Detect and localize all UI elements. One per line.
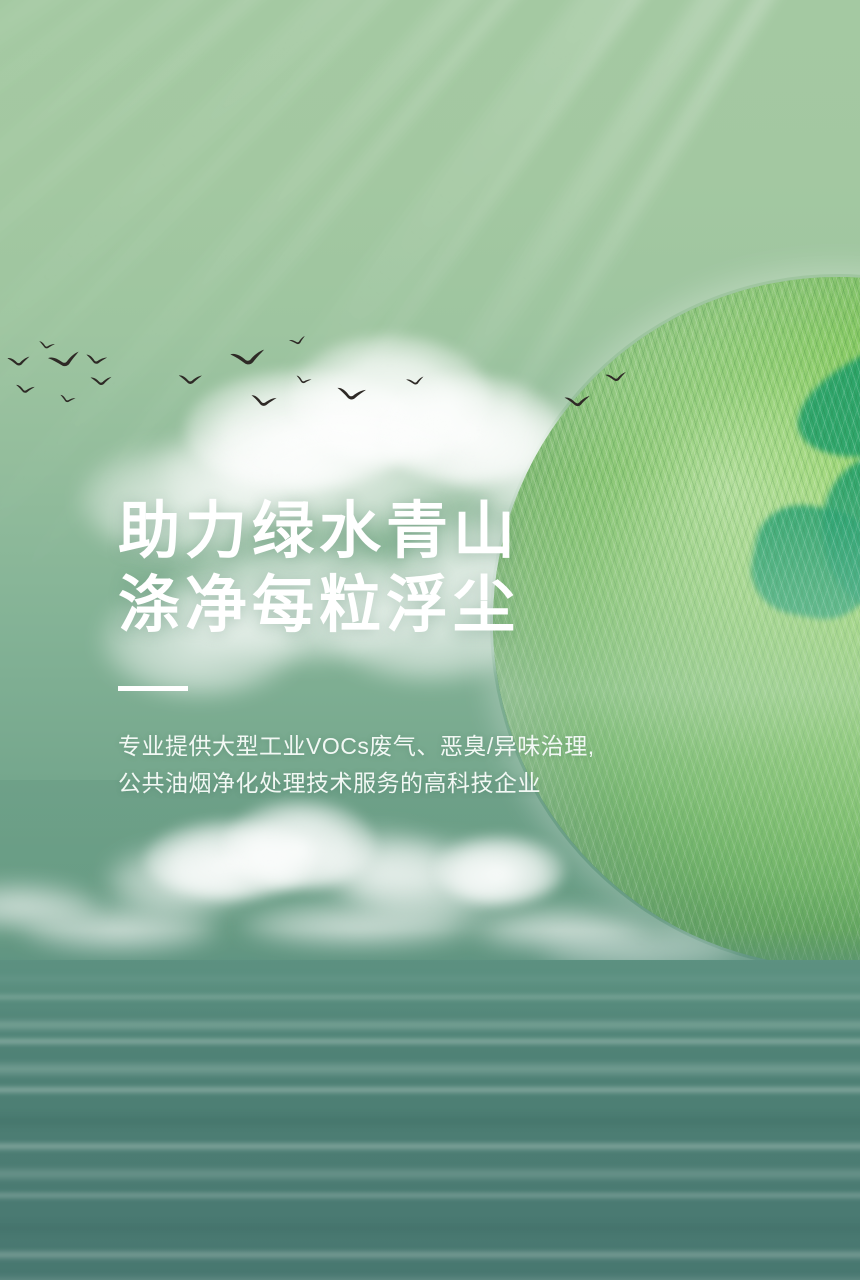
text-content: 助力绿水青山 涤净每粒浮尘 专业提供大型工业VOCs废气、恶臭/异味治理, 公共… [118, 495, 678, 802]
cloud-puff [340, 840, 520, 920]
cloud-puff [105, 845, 255, 915]
bird-icon [15, 383, 38, 396]
bird-icon [58, 393, 78, 406]
divider-rule [118, 686, 188, 691]
bird-icon [37, 340, 57, 353]
water-surface [0, 960, 860, 1280]
bird-icon [90, 374, 116, 389]
water-wave-streak [0, 1110, 860, 1132]
bird-icon [288, 333, 310, 349]
water-horizon-blend [0, 930, 860, 1020]
subtitle-line-1: 专业提供大型工业VOCs废气、恶臭/异味治理, [118, 728, 678, 765]
water-wave-streak [0, 1250, 860, 1260]
light-ray [0, 0, 542, 386]
cloud-puff [145, 820, 315, 900]
cloud-puff [435, 835, 565, 905]
bird-icon [604, 369, 631, 386]
water-wave-streak [0, 1218, 860, 1238]
headline-line-1: 助力绿水青山 [118, 495, 678, 569]
subtitle-line-2: 公共油烟净化处理技术服务的高科技企业 [118, 765, 678, 802]
cloud-puff [470, 908, 650, 952]
bird-icon [84, 353, 110, 369]
water-wave-streak [0, 1086, 860, 1094]
globe-continent [857, 565, 860, 740]
light-ray [0, 0, 793, 578]
water-wave-streak [0, 1060, 860, 1078]
cloud-puff [225, 800, 375, 890]
cloud-puff [540, 930, 740, 980]
poster-banner: 助力绿水青山 涤净每粒浮尘 专业提供大型工业VOCs废气、恶臭/异味治理, 公共… [0, 0, 860, 1280]
globe-continent [744, 497, 860, 626]
cloud-puff [20, 906, 220, 954]
water-wave-streak [0, 1142, 860, 1151]
water-wave-streak [0, 974, 860, 984]
birds-flock [0, 330, 480, 470]
bird-icon [405, 374, 428, 389]
bird-icon [6, 354, 33, 371]
globe-submerged-part [493, 960, 860, 967]
bird-icon [177, 373, 205, 389]
bird-icon [249, 393, 280, 411]
water-wave-streak [0, 994, 860, 1000]
water-wave-streak [0, 1166, 860, 1182]
globe-continent [813, 442, 860, 621]
bird-icon [228, 345, 271, 373]
cloud-puff [310, 830, 450, 900]
bird-icon [563, 392, 594, 411]
water-wave-streak [0, 1274, 860, 1280]
bird-icon [294, 374, 314, 387]
cloud-puff [240, 902, 480, 948]
water-wave-streak [0, 1018, 860, 1032]
headline-line-2: 涤净每粒浮尘 [118, 569, 678, 643]
bird-icon [336, 385, 370, 404]
water-wave-streak [0, 1038, 860, 1045]
water-wave-streak [0, 1192, 860, 1199]
cloud-puff [0, 883, 100, 927]
globe-continent [782, 301, 860, 483]
